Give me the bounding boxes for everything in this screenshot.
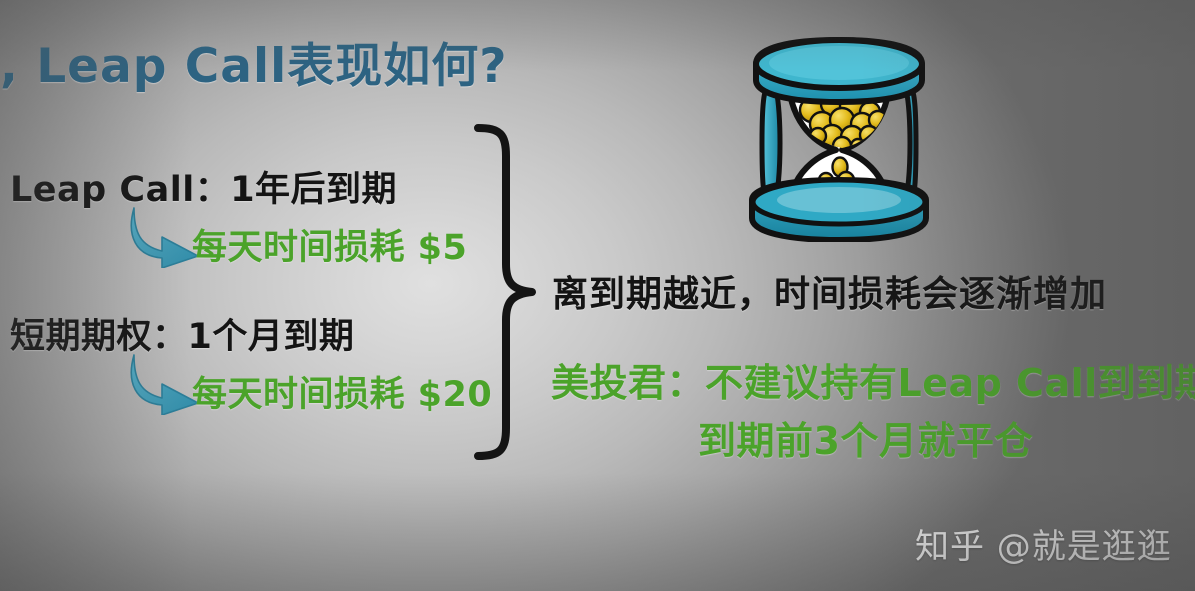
advice-line-1: 美投君：不建议持有Leap Call到到期 bbox=[551, 352, 1195, 407]
leap-call-daily-decay-value: 每天时间损耗 $5 bbox=[192, 219, 467, 270]
zhihu-watermark: 知乎 @就是逛逛 bbox=[915, 519, 1172, 568]
short-term-option-expiry-label: 短期期权：1个月到期 bbox=[10, 308, 354, 359]
hourglass-with-gold-coins-icon bbox=[726, 36, 952, 242]
advice-line-2: 到期前3个月就平仓 bbox=[698, 410, 1033, 465]
short-term-daily-decay-value: 每天时间损耗 $20 bbox=[192, 366, 492, 417]
page-title: , Leap Call表现如何? bbox=[0, 27, 507, 96]
leap-call-expiry-label: Leap Call：1年后到期 bbox=[10, 161, 397, 212]
time-decay-conclusion-text: 离到期越近，时间损耗会逐渐增加 bbox=[552, 265, 1107, 317]
slide-canvas: , Leap Call表现如何? Leap Call：1年后到期 每天时间损耗 … bbox=[0, 0, 1195, 591]
